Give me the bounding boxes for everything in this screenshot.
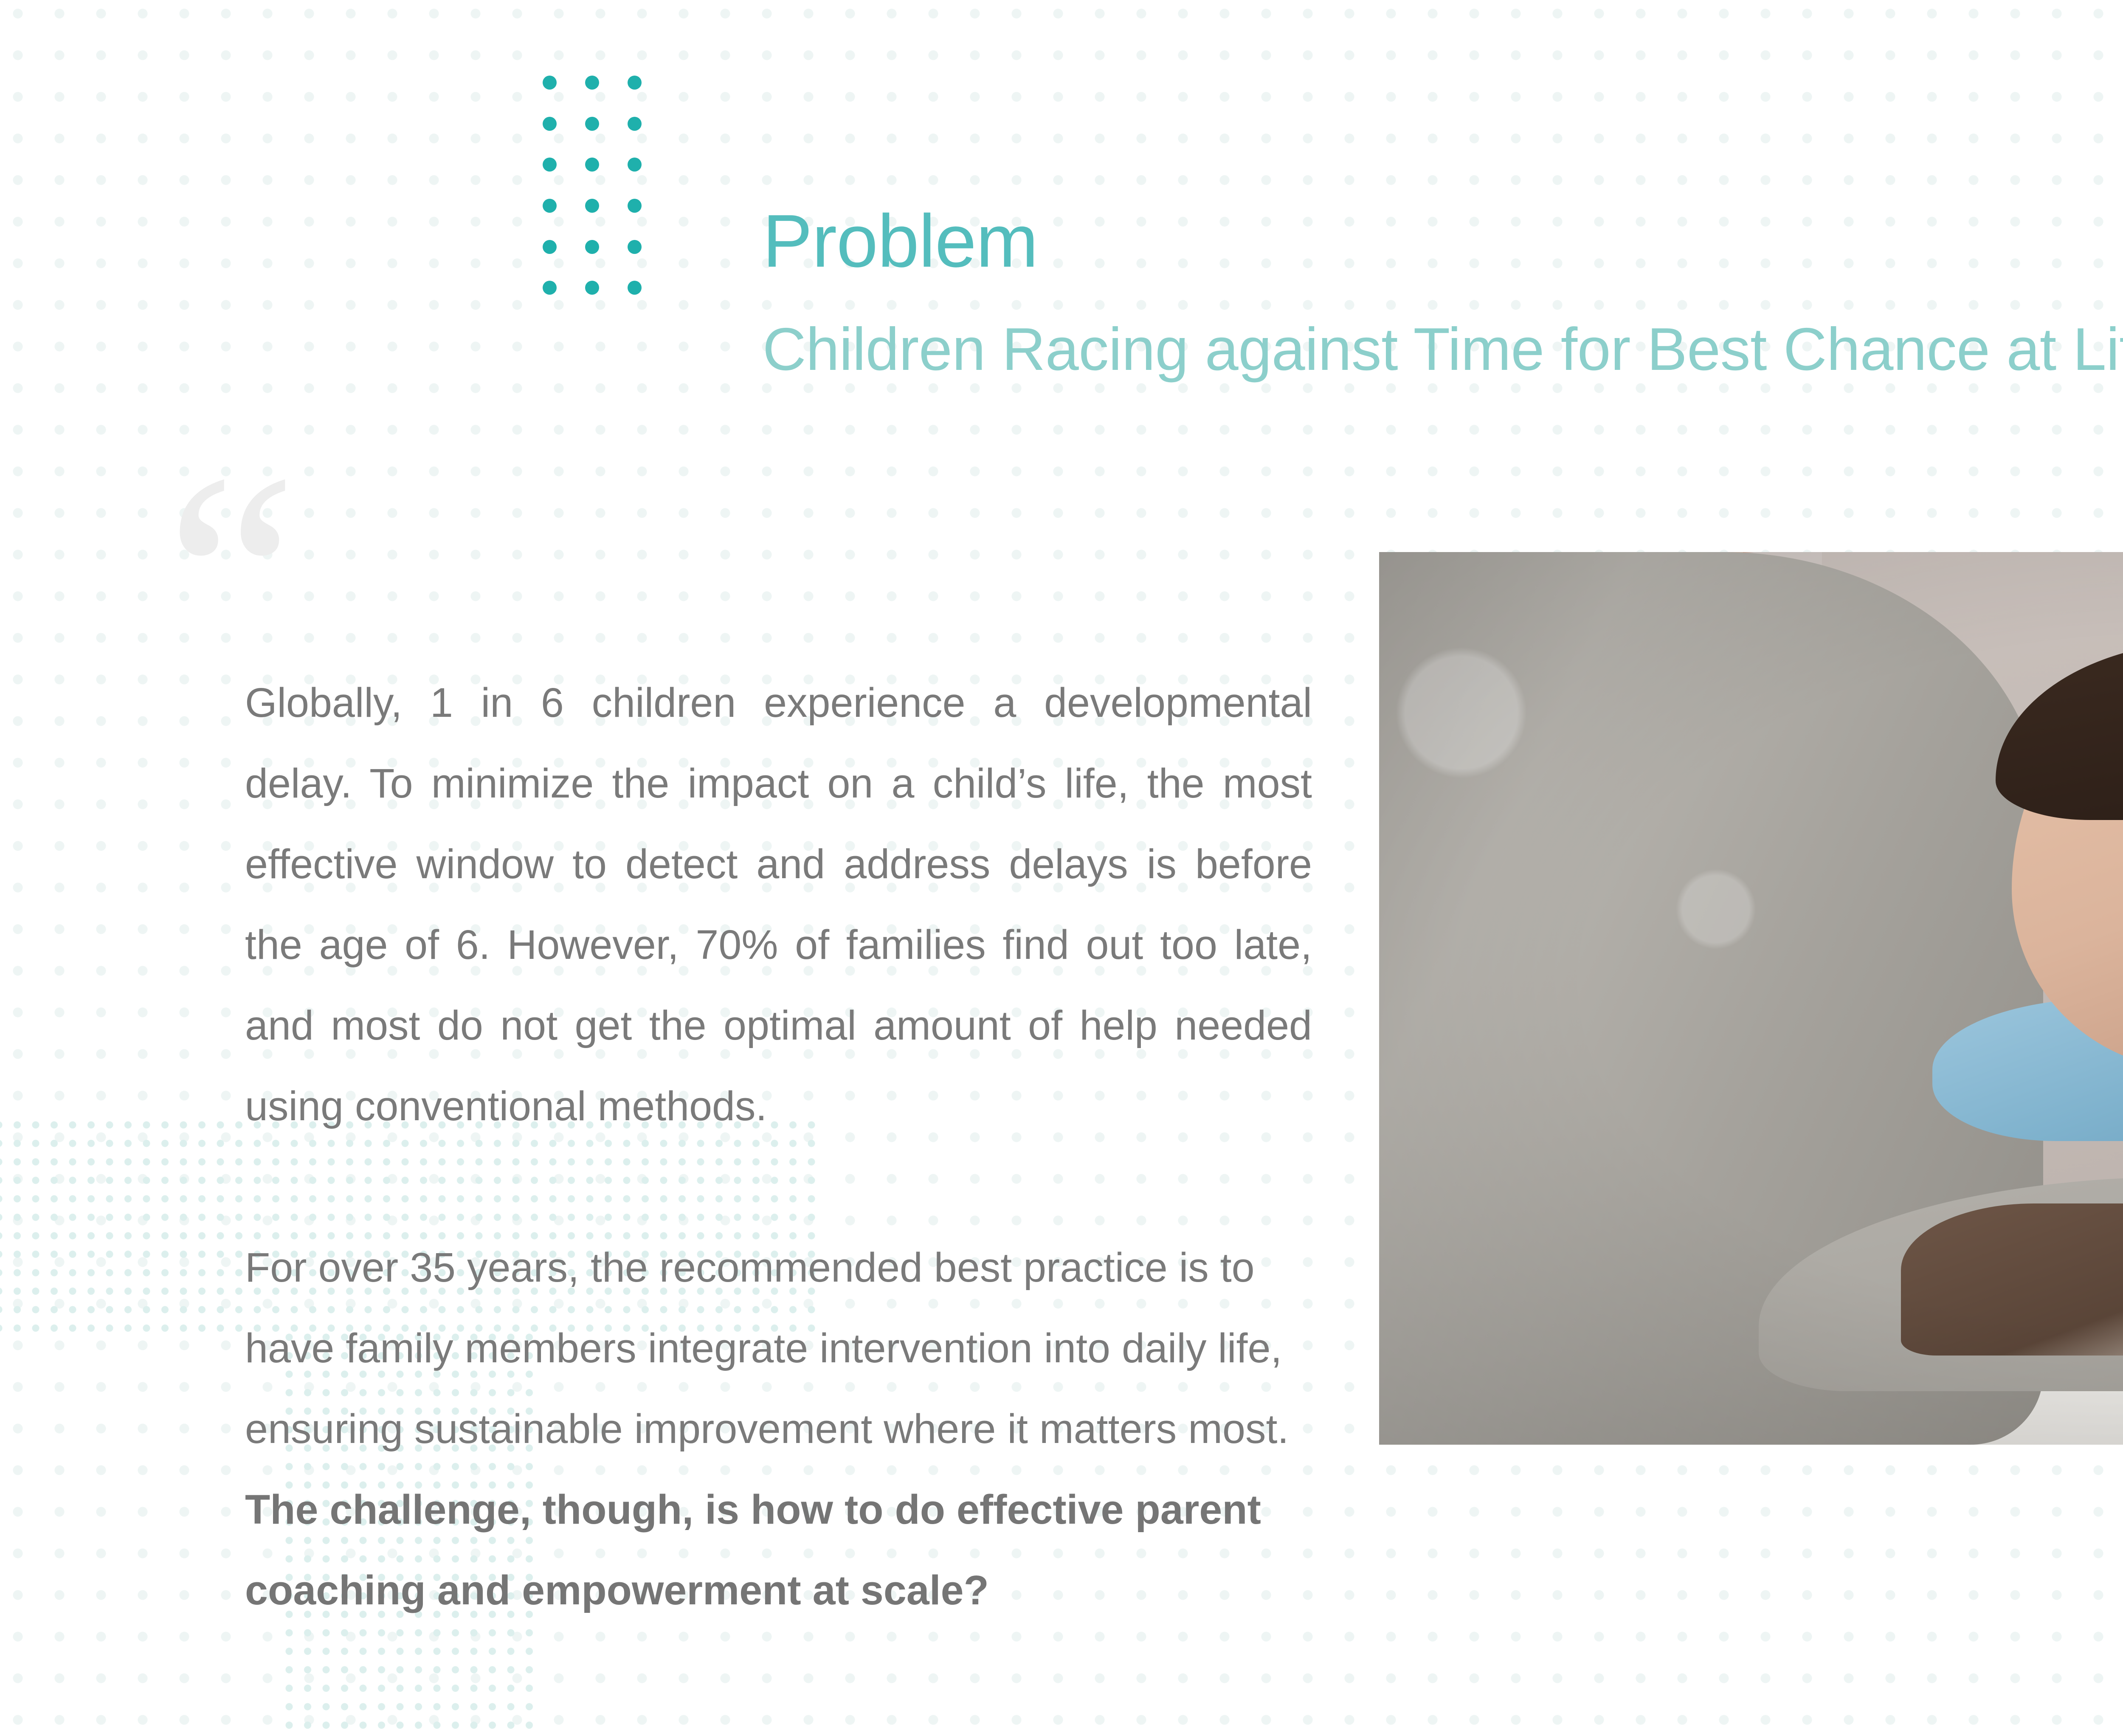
grid-dot <box>585 117 599 131</box>
grid-dot <box>585 76 599 90</box>
body-copy: Globally, 1 in 6 children experience a d… <box>245 662 1312 1631</box>
grid-dot <box>543 240 557 254</box>
page-title: Problem <box>763 204 2123 279</box>
paragraph-two-bold: The challenge, though, is how to do effe… <box>245 1486 1261 1613</box>
grid-dot <box>628 158 642 172</box>
grid-dot <box>543 117 557 131</box>
photo-mother-and-baby <box>1379 552 2123 1445</box>
paragraph-one: Globally, 1 in 6 children experience a d… <box>245 662 1312 1147</box>
grid-dot <box>543 76 557 90</box>
page-subtitle: Children Racing against Time for Best Ch… <box>763 319 2123 380</box>
grid-dot <box>628 199 642 213</box>
grid-dot <box>543 281 557 295</box>
photo-vignette <box>1379 552 2123 1445</box>
grid-dot <box>628 117 642 131</box>
grid-dot <box>585 199 599 213</box>
title-block: Problem Children Racing against Time for… <box>763 204 2123 380</box>
grid-dot <box>628 76 642 90</box>
paragraph-two: For over 35 years, the recommended best … <box>245 1227 1312 1631</box>
grid-dot <box>628 281 642 295</box>
slide-canvas: Problem Children Racing against Time for… <box>0 0 2123 1736</box>
grid-dot <box>585 158 599 172</box>
grid-dot <box>585 240 599 254</box>
paragraph-two-regular: For over 35 years, the recommended best … <box>245 1244 1289 1452</box>
grid-dot <box>585 281 599 295</box>
grid-dot <box>543 158 557 172</box>
grid-dot <box>628 240 642 254</box>
grid-dot <box>543 199 557 213</box>
header-dot-grid-icon <box>543 76 670 322</box>
